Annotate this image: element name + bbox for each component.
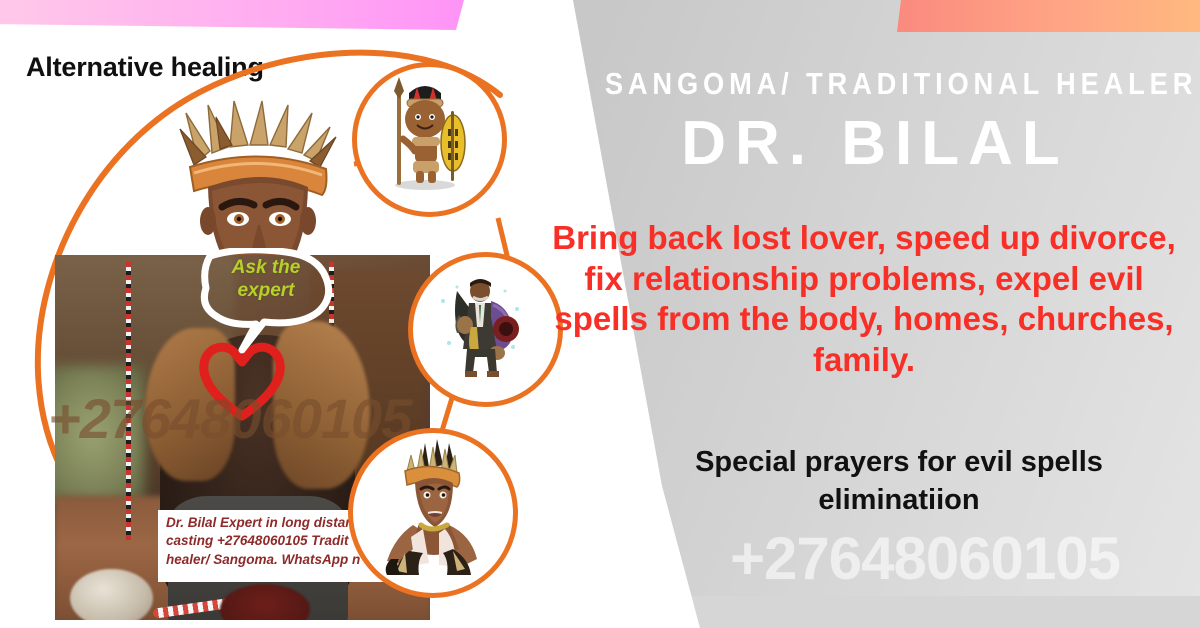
circle-zulu-warrior-cartoon (352, 62, 507, 217)
poster-canvas: Alternative healing (0, 0, 1200, 628)
traditional-healer-figure-icon (413, 257, 548, 392)
orange-accent-band (897, 0, 1200, 32)
speech-bubble-text: Ask the expert (206, 256, 326, 302)
zulu-warrior-cartoon-icon (357, 67, 492, 202)
services-text: Bring back lost lover, speed up divorce,… (540, 218, 1188, 380)
special-prayers-text: Special prayers for evil spells eliminat… (612, 444, 1186, 519)
phone-watermark: +27648060105 (655, 524, 1195, 593)
kicker-heading: SANGOMA/ TRADITIONAL HEALER (605, 66, 1145, 102)
crouching-warrior-icon (353, 433, 503, 583)
circle-crouching-warrior-illustration (348, 428, 518, 598)
page-title: DR. BILAL (568, 108, 1182, 179)
